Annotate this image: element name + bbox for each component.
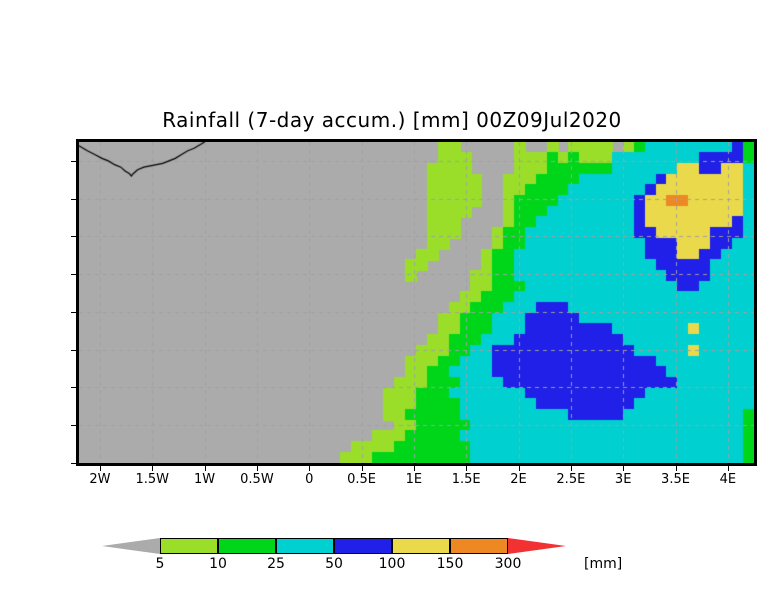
y-axis-tick-mark (71, 425, 76, 426)
rainfall-heatmap-canvas (79, 142, 754, 463)
colorbar (160, 538, 566, 554)
x-axis-tick-label: 3E (615, 472, 632, 487)
x-axis-tick-label: 0.5E (347, 472, 376, 487)
x-axis-tick-label: 0 (305, 472, 313, 487)
x-axis-tick-mark (623, 466, 624, 471)
colorbar-tick-label: 10 (209, 556, 227, 572)
x-axis-tick-label: 1.5W (135, 472, 169, 487)
colorbar-band (160, 538, 218, 554)
y-axis-labels: 4.8N4.5N4.2N3.9N3.6N3.3N3N2.7N2.4N (0, 0, 70, 612)
x-axis-tick-mark (466, 466, 467, 471)
x-axis-tick-label: 4E (720, 472, 737, 487)
x-axis-tick-mark (728, 466, 729, 471)
colorbar-band (276, 538, 334, 554)
y-axis-tick-mark (71, 236, 76, 237)
colorbar-band (218, 538, 276, 554)
x-axis-tick-mark (362, 466, 363, 471)
x-axis-tick-label: 1W (194, 472, 215, 487)
y-axis-tick-mark (71, 350, 76, 351)
x-axis-tick-mark (676, 466, 677, 471)
y-axis-tick-mark (71, 274, 76, 275)
x-axis-tick-label: 1.5E (452, 472, 481, 487)
x-axis-tick-label: 2.5E (556, 472, 585, 487)
colorbar-band (450, 538, 508, 554)
x-axis-tick-mark (152, 466, 153, 471)
x-axis-tick-mark (519, 466, 520, 471)
x-axis-tick-label: 2E (510, 472, 527, 487)
colorbar-tick-label: 5 (156, 556, 165, 572)
colorbar-over-arrow (508, 538, 566, 554)
x-axis-tick-mark (414, 466, 415, 471)
colorbar-band (334, 538, 392, 554)
x-axis-tick-mark (100, 466, 101, 471)
colorbar-tick-label: 25 (267, 556, 285, 572)
colorbar-under-arrow (102, 538, 160, 554)
colorbar-band (392, 538, 450, 554)
colorbar-tick-label: 300 (495, 556, 522, 572)
x-axis-tick-label: 1E (406, 472, 423, 487)
colorbar-units-label: [mm] (584, 556, 622, 572)
y-axis-tick-mark (71, 463, 76, 464)
x-axis-tick-mark (571, 466, 572, 471)
y-axis-tick-mark (71, 387, 76, 388)
colorbar-tick-label: 50 (325, 556, 343, 572)
x-axis-tick-mark (257, 466, 258, 471)
chart-title: Rainfall (7-day accum.) [mm] 00Z09Jul202… (0, 108, 784, 132)
rainfall-map-figure: Rainfall (7-day accum.) [mm] 00Z09Jul202… (0, 0, 784, 612)
colorbar-tick-label: 150 (437, 556, 464, 572)
map-plot-area (76, 139, 757, 466)
x-axis-tick-label: 0.5W (240, 472, 274, 487)
colorbar-tick-label: 100 (379, 556, 406, 572)
y-axis-tick-mark (71, 199, 76, 200)
y-axis-tick-mark (71, 312, 76, 313)
x-axis-tick-label: 2W (89, 472, 110, 487)
x-axis-tick-mark (309, 466, 310, 471)
x-axis-tick-mark (205, 466, 206, 471)
y-axis-tick-mark (71, 161, 76, 162)
x-axis-tick-label: 3.5E (661, 472, 690, 487)
